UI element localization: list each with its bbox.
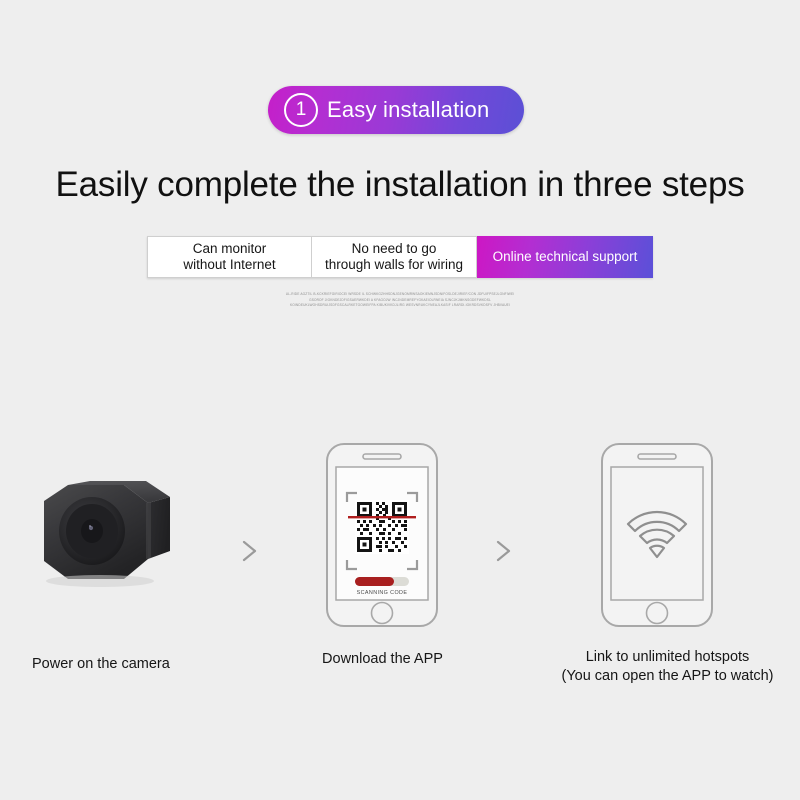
feature-cell-line2: without Internet	[183, 257, 275, 272]
feature-bar: Can monitor without Internet No need to …	[147, 236, 653, 278]
step-number: 1	[284, 93, 318, 127]
scan-line	[348, 516, 416, 518]
step-3-caption: Link to unlimited hotspots (You can open…	[535, 648, 800, 686]
feature-cell-line2: through walls for wiring	[325, 257, 463, 272]
feature-cell-monitor: Can monitor without Internet	[147, 236, 312, 278]
phone-qr-scanner-icon	[317, 438, 447, 638]
caption-line2: (You can open the APP to watch)	[561, 668, 773, 684]
fineprint-block: UL-RIDE AGZTIL B-KCKRIEFGIRIOCEI WRSDE I…	[0, 292, 800, 309]
step-3	[570, 430, 745, 630]
feature-cell-support: Online technical support	[477, 236, 653, 278]
phone-wifi-icon	[592, 438, 722, 638]
caption-line1: Download the APP	[322, 651, 443, 667]
infographic-canvas: 1 Easy installation Easily complete the …	[0, 0, 800, 800]
chevron-right-icon	[490, 538, 516, 564]
chevron-right-icon	[236, 538, 262, 564]
page-title: Easily complete the installation in thre…	[0, 165, 800, 205]
caption-line1: Link to unlimited hotspots	[586, 649, 750, 665]
mini-camera-icon	[20, 465, 210, 605]
step-badge-label: Easy installation	[327, 97, 489, 123]
fineprint-line: KOINDEUKLWOHSDRUIJSDFGSCALRKETGOWEIFPA K…	[0, 303, 800, 309]
caption-line1: Power on the camera	[32, 656, 170, 672]
step-1-caption: Power on the camera	[0, 655, 210, 674]
step-1	[10, 430, 210, 630]
feature-cell-line1: Online technical support	[493, 249, 638, 265]
step-badge: 1 Easy installation	[268, 86, 524, 134]
feature-cell-line1: No need to go	[352, 241, 437, 256]
step-2-caption: Download the APP	[290, 650, 475, 669]
step-2: SCANNING CODE	[295, 430, 470, 630]
feature-cell-wiring: No need to go through walls for wiring	[312, 236, 477, 278]
feature-cell-line1: Can monitor	[193, 241, 267, 256]
steps-row: SCANNING CODE	[0, 430, 800, 640]
